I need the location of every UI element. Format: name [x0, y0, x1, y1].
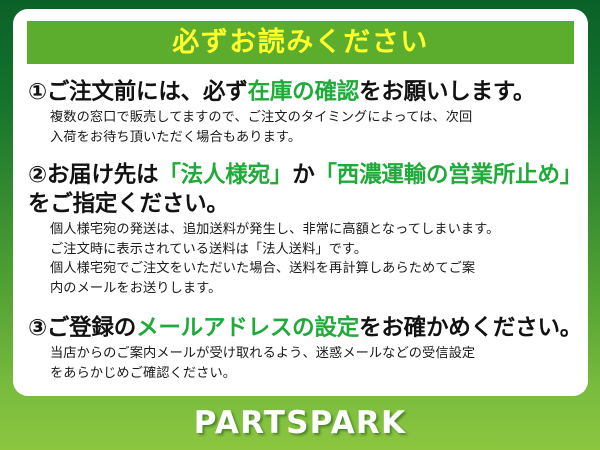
notice-item-3-subtext-line-2: をあらかじめご確認ください。: [50, 366, 236, 381]
notice-item-1-number: ①: [28, 79, 47, 105]
notice-item-2-heading-line-2: をご指定ください。: [28, 190, 578, 219]
notice-title: 必ずお読みください: [172, 29, 429, 56]
notice-item-3-head-highlight: メールアドレスの設定: [136, 315, 359, 341]
notice-item-2-head-part-1: お届け先は: [47, 162, 159, 188]
notice-item-2-head-part-3: か: [292, 162, 314, 188]
notice-footer: PARTSPARK: [0, 396, 600, 450]
notice-item-3-subtext-line-1: 当店からのご案内メールが受け取れるよう、迷惑メールなどの受信設定: [50, 346, 475, 361]
notice-banner: 必ずお読みください ①ご注文前には、必ず在庫の確認をお願いします。 複数の窓口で…: [0, 0, 600, 450]
notice-item-2-subtext-line-2: ご注文時に表示されている送料は「法人送料」です。: [50, 242, 367, 257]
notice-item-1-head-highlight: 在庫の確認: [248, 79, 360, 105]
notice-item-1-subtext-line-2: 入荷をお待ち頂いただく場合もあります。: [50, 130, 301, 145]
brand-name: PARTSPARK: [194, 408, 406, 439]
notice-item-2-subtext-line-3: 個人様宅宛でご注文をいただいた場合、送料を再計算しあらためてご案: [50, 261, 475, 276]
notice-item-2-subtext: 個人様宅宛の発送は、追加送料が発生し、非常に高額となってしまいます。ご注文時に表…: [28, 220, 578, 298]
notice-item-3-subtext: 当店からのご案内メールが受け取れるよう、迷惑メールなどの受信設定をあらかじめご確…: [28, 344, 578, 383]
notice-header-banner: 必ずお読みください: [27, 21, 574, 64]
notice-item-3: ③ご登録のメールアドレスの設定をお確かめください。 当店からのご案内メールが受け…: [13, 314, 588, 383]
notice-item-3-heading: ③ご登録のメールアドレスの設定をお確かめください。: [28, 314, 578, 343]
notice-item-2-heading: ②お届け先は「法人様宛」か「西濃運輸の営業所止め」: [28, 161, 578, 190]
notice-item-1-head-part-1: ご注文前には、必ず: [47, 79, 248, 105]
notice-item-1-subtext: 複数の窓口で販売してますので、ご注文のタイミングによっては、次回入荷をお待ち頂い…: [28, 108, 578, 147]
notice-items-list: ①ご注文前には、必ず在庫の確認をお願いします。 複数の窓口で販売してますので、ご…: [13, 72, 588, 383]
notice-item-2-subtext-line-4: 内のメールをお送りします。: [50, 281, 221, 296]
notice-item-2-head-highlight-1: 「法人様宛」: [158, 162, 292, 188]
notice-item-1-heading: ①ご注文前には、必ず在庫の確認をお願いします。: [28, 78, 578, 107]
notice-item-1: ①ご注文前には、必ず在庫の確認をお願いします。 複数の窓口で販売してますので、ご…: [13, 78, 588, 147]
notice-panel: 必ずお読みください ①ご注文前には、必ず在庫の確認をお願いします。 複数の窓口で…: [13, 9, 588, 396]
notice-item-2-head-highlight-2: 「西濃運輸の営業所止め」: [315, 162, 583, 188]
notice-item-3-number: ③: [28, 315, 47, 341]
notice-item-2-subtext-line-1: 個人様宅宛の発送は、追加送料が発生し、非常に高額となってしまいます。: [50, 222, 499, 237]
notice-item-2: ②お届け先は「法人様宛」か「西濃運輸の営業所止め」 をご指定ください。 個人様宅…: [13, 161, 588, 298]
notice-item-1-head-part-3: をお願いします。: [359, 79, 535, 105]
notice-item-1-subtext-line-1: 複数の窓口で販売してますので、ご注文のタイミングによっては、次回: [50, 110, 472, 125]
notice-item-3-head-part-3: をお確かめください。: [359, 315, 582, 341]
notice-item-2-number: ②: [28, 162, 47, 188]
notice-item-3-head-part-1: ご登録の: [47, 315, 136, 341]
